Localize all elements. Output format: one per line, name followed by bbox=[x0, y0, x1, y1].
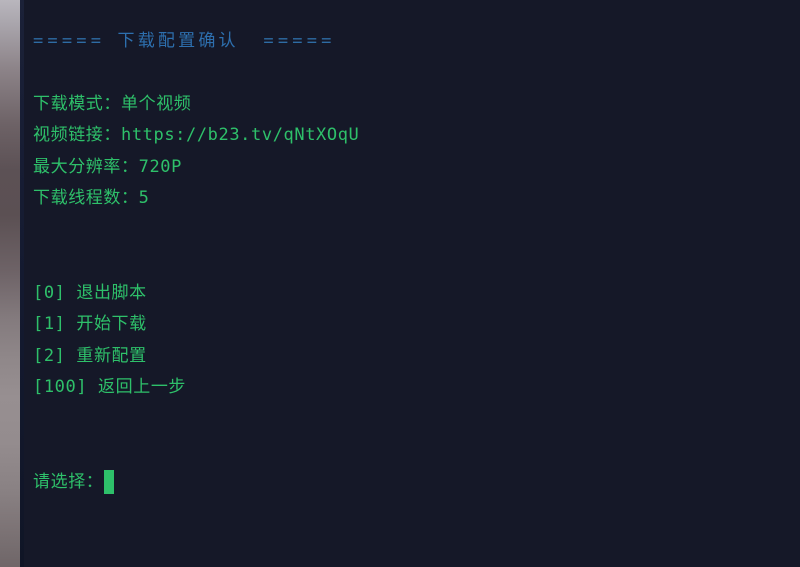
config-label-max-resolution: 最大分辨率： bbox=[33, 157, 139, 177]
menu-option-go-back[interactable]: [100] 返回上一步 bbox=[33, 372, 800, 404]
terminal-screen: ===== 下载配置确认 ===== 下载模式：单个视频 视频链接：https:… bbox=[0, 0, 800, 567]
header-rule-right: ===== bbox=[263, 31, 335, 51]
config-row-video-url: 视频链接：https://b23.tv/qNtXOqU bbox=[33, 120, 800, 152]
menu-label-start-download: 开始下载 bbox=[76, 314, 146, 334]
menu-key-go-back: [100] bbox=[33, 377, 87, 397]
config-value-max-resolution: 720P bbox=[139, 157, 182, 177]
config-row-max-resolution: 最大分辨率：720P bbox=[33, 152, 800, 184]
menu-option-start-download[interactable]: [1] 开始下载 bbox=[33, 309, 800, 341]
menu-label-go-back: 返回上一步 bbox=[98, 377, 186, 397]
config-row-thread-count: 下载线程数：5 bbox=[33, 183, 800, 215]
menu-label-exit: 退出脚本 bbox=[76, 283, 146, 303]
config-value-video-url: https://b23.tv/qNtXOqU bbox=[121, 125, 359, 145]
spacer-config-menu bbox=[33, 215, 800, 247]
config-label-video-url: 视频链接： bbox=[33, 125, 121, 145]
config-label-download-mode: 下载模式： bbox=[33, 94, 121, 114]
text-cursor-block bbox=[104, 470, 114, 494]
header-rule-left: ===== bbox=[33, 31, 105, 51]
menu-key-exit: [0] bbox=[33, 283, 66, 303]
prompt-row[interactable]: 请选择： bbox=[33, 467, 800, 499]
config-value-thread-count: 5 bbox=[139, 188, 150, 208]
menu-key-start-download: [1] bbox=[33, 314, 66, 334]
spacer-config-menu-2 bbox=[33, 246, 800, 278]
spacer-menu-prompt-2 bbox=[33, 435, 800, 467]
config-row-download-mode: 下载模式：单个视频 bbox=[33, 89, 800, 121]
desktop-left-strip bbox=[0, 0, 20, 567]
menu-key-reconfigure: [2] bbox=[33, 346, 66, 366]
config-value-download-mode: 单个视频 bbox=[121, 94, 191, 114]
prompt-label: 请选择： bbox=[33, 467, 103, 499]
header-title-text: 下载配置确认 bbox=[118, 31, 239, 51]
menu-label-reconfigure: 重新配置 bbox=[76, 346, 146, 366]
menu-option-reconfigure[interactable]: [2] 重新配置 bbox=[33, 341, 800, 373]
config-label-thread-count: 下载线程数： bbox=[33, 188, 139, 208]
header-title-line: ===== 下载配置确认 ===== bbox=[33, 26, 800, 58]
terminal-output-area[interactable]: ===== 下载配置确认 ===== 下载模式：单个视频 视频链接：https:… bbox=[24, 0, 800, 567]
menu-option-exit[interactable]: [0] 退出脚本 bbox=[33, 278, 800, 310]
spacer-menu-prompt bbox=[33, 404, 800, 436]
